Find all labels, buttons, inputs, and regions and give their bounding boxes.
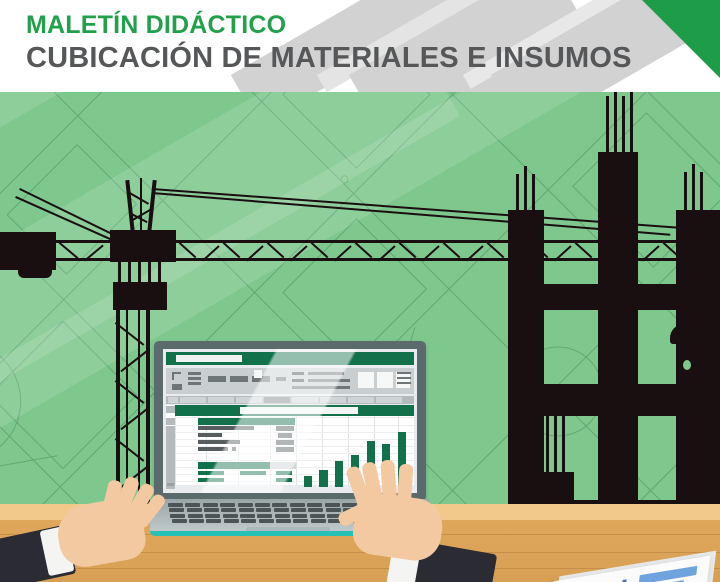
keyboard-key[interactable] (206, 519, 221, 523)
keyboard-key[interactable] (220, 503, 235, 507)
keyboard-key[interactable] (204, 508, 219, 512)
keyboard-key[interactable] (325, 503, 340, 507)
spreadsheet-titlebar (166, 352, 414, 365)
keyboard-key[interactable] (221, 508, 236, 512)
right-hand-group (360, 460, 550, 582)
keyboard-key[interactable] (238, 503, 253, 507)
keyboard-key[interactable] (223, 514, 238, 518)
keyboard-key[interactable] (256, 508, 271, 512)
keyboard-key[interactable] (308, 508, 323, 512)
keyboard-key[interactable] (291, 508, 306, 512)
corner-accent-triangle (642, 0, 720, 78)
keyboard-key[interactable] (272, 503, 287, 507)
keyboard-key[interactable] (240, 514, 255, 518)
keyboard-key[interactable] (310, 514, 325, 518)
subtitle-text: MALETÍN DIDÁCTICO (26, 10, 632, 40)
keyboard-key[interactable] (257, 514, 272, 518)
keyboard-key[interactable] (292, 514, 307, 518)
spreadsheet-title-field (176, 355, 242, 362)
keyboard-key[interactable] (259, 519, 274, 523)
chart-bar (319, 470, 327, 487)
keyboard-key[interactable] (205, 514, 220, 518)
keyboard-key[interactable] (326, 508, 341, 512)
keyboard-key[interactable] (274, 508, 289, 512)
keyboard-key[interactable] (275, 514, 290, 518)
spreadsheet-ribbon[interactable] (166, 368, 414, 394)
keyboard-key[interactable] (276, 519, 291, 523)
finger (380, 460, 397, 511)
page-title: CUBICACIÓN DE MATERIALES E INSUMOS (26, 40, 632, 76)
title-block: MALETÍN DIDÁCTICO CUBICACIÓN DE MATERIAL… (26, 10, 632, 76)
keyboard-key[interactable] (239, 508, 254, 512)
keyboard-key[interactable] (203, 503, 218, 507)
keyboard-key[interactable] (307, 503, 322, 507)
chart-bar (335, 461, 343, 487)
keyboard-key[interactable] (241, 519, 256, 523)
keyboard-key[interactable] (224, 519, 239, 523)
keyboard-key[interactable] (311, 519, 326, 523)
spreadsheet-column-headers[interactable] (166, 396, 414, 404)
illustration-scene (0, 92, 720, 582)
keyboard-key[interactable] (290, 503, 305, 507)
header-banner: MALETÍN DIDÁCTICO CUBICACIÓN DE MATERIAL… (0, 0, 720, 92)
poster-root: MALETÍN DIDÁCTICO CUBICACIÓN DE MATERIAL… (0, 0, 720, 582)
keyboard-key[interactable] (293, 519, 308, 523)
chart-bar (304, 476, 312, 487)
keyboard-key[interactable] (255, 503, 270, 507)
left-hand-group (0, 472, 200, 582)
